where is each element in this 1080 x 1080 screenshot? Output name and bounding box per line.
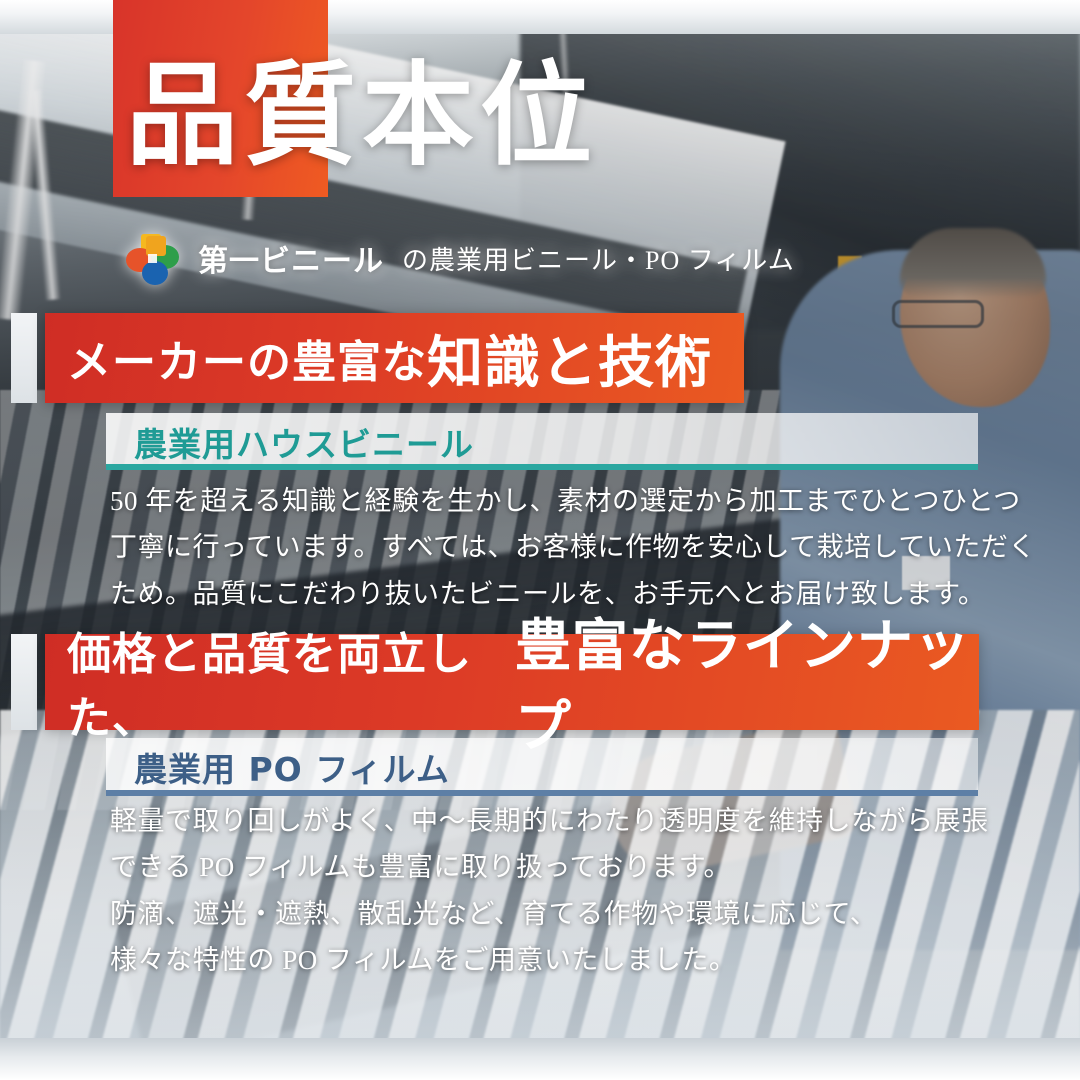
paragraph-line: 50 年を超える知識と経験を生かし、素材の選定から加工までひとつひとつ: [110, 478, 990, 524]
banner-accent-bar: [11, 634, 37, 730]
subsection-panel-house-vinyl: 農業用ハウスビニール: [106, 413, 978, 470]
section-banner-1: メーカーの豊富な 知識と技術: [45, 313, 744, 403]
paragraph-line: 丁寧に行っています。すべては、お客様に作物を安心して栽培していただく: [110, 524, 990, 570]
section-banner-2: 価格と品質を両立した、 豊富なラインナップ: [45, 634, 979, 730]
subsection-panel-po-film: 農業用 PO フィルム: [106, 738, 978, 796]
promo-banner-page: 品質本位 第一ビニール の農業用ビニール・PO フィルム メーカーの豊富な 知識…: [0, 0, 1080, 1080]
banner-accent-bar: [11, 313, 37, 403]
banner-2-small-text: 価格と品質を両立した、: [67, 618, 515, 746]
subsection-title-house-vinyl: 農業用ハウスビニール: [134, 418, 474, 466]
brand-row: 第一ビニール の農業用ビニール・PO フィルム: [120, 226, 795, 290]
subsection-title-po-film: 農業用 PO フィルム: [134, 743, 450, 791]
subsection-rule-teal: [106, 464, 978, 470]
paragraph-line: 軽量で取り回しがよく、中〜長期的にわたり透明度を維持しながら展張: [110, 798, 990, 844]
brand-name: 第一ビニール: [198, 236, 384, 280]
subsection-rule-blue: [106, 790, 978, 796]
pinwheel-logo-icon: [120, 226, 184, 290]
banner-1-small-text: メーカーの豊富な: [67, 326, 427, 390]
paragraph-po-film: 軽量で取り回しがよく、中〜長期的にわたり透明度を維持しながら展張 できる PO …: [110, 798, 990, 984]
brand-tagline: の農業用ビニール・PO フィルム: [402, 240, 795, 277]
banner-1-large-text: 知識と技術: [427, 318, 712, 399]
page-title: 品質本位: [126, 60, 598, 172]
paragraph-line: 様々な特性の PO フィルムをご用意いたしました。: [110, 937, 990, 983]
paragraph-house-vinyl: 50 年を超える知識と経験を生かし、素材の選定から加工までひとつひとつ 丁寧に行…: [110, 478, 990, 617]
paragraph-line: 防滴、遮光・遮熱、散乱光など、育てる作物や環境に応じて、: [110, 891, 990, 937]
paragraph-line: できる PO フィルムも豊富に取り扱っております。: [110, 844, 990, 890]
